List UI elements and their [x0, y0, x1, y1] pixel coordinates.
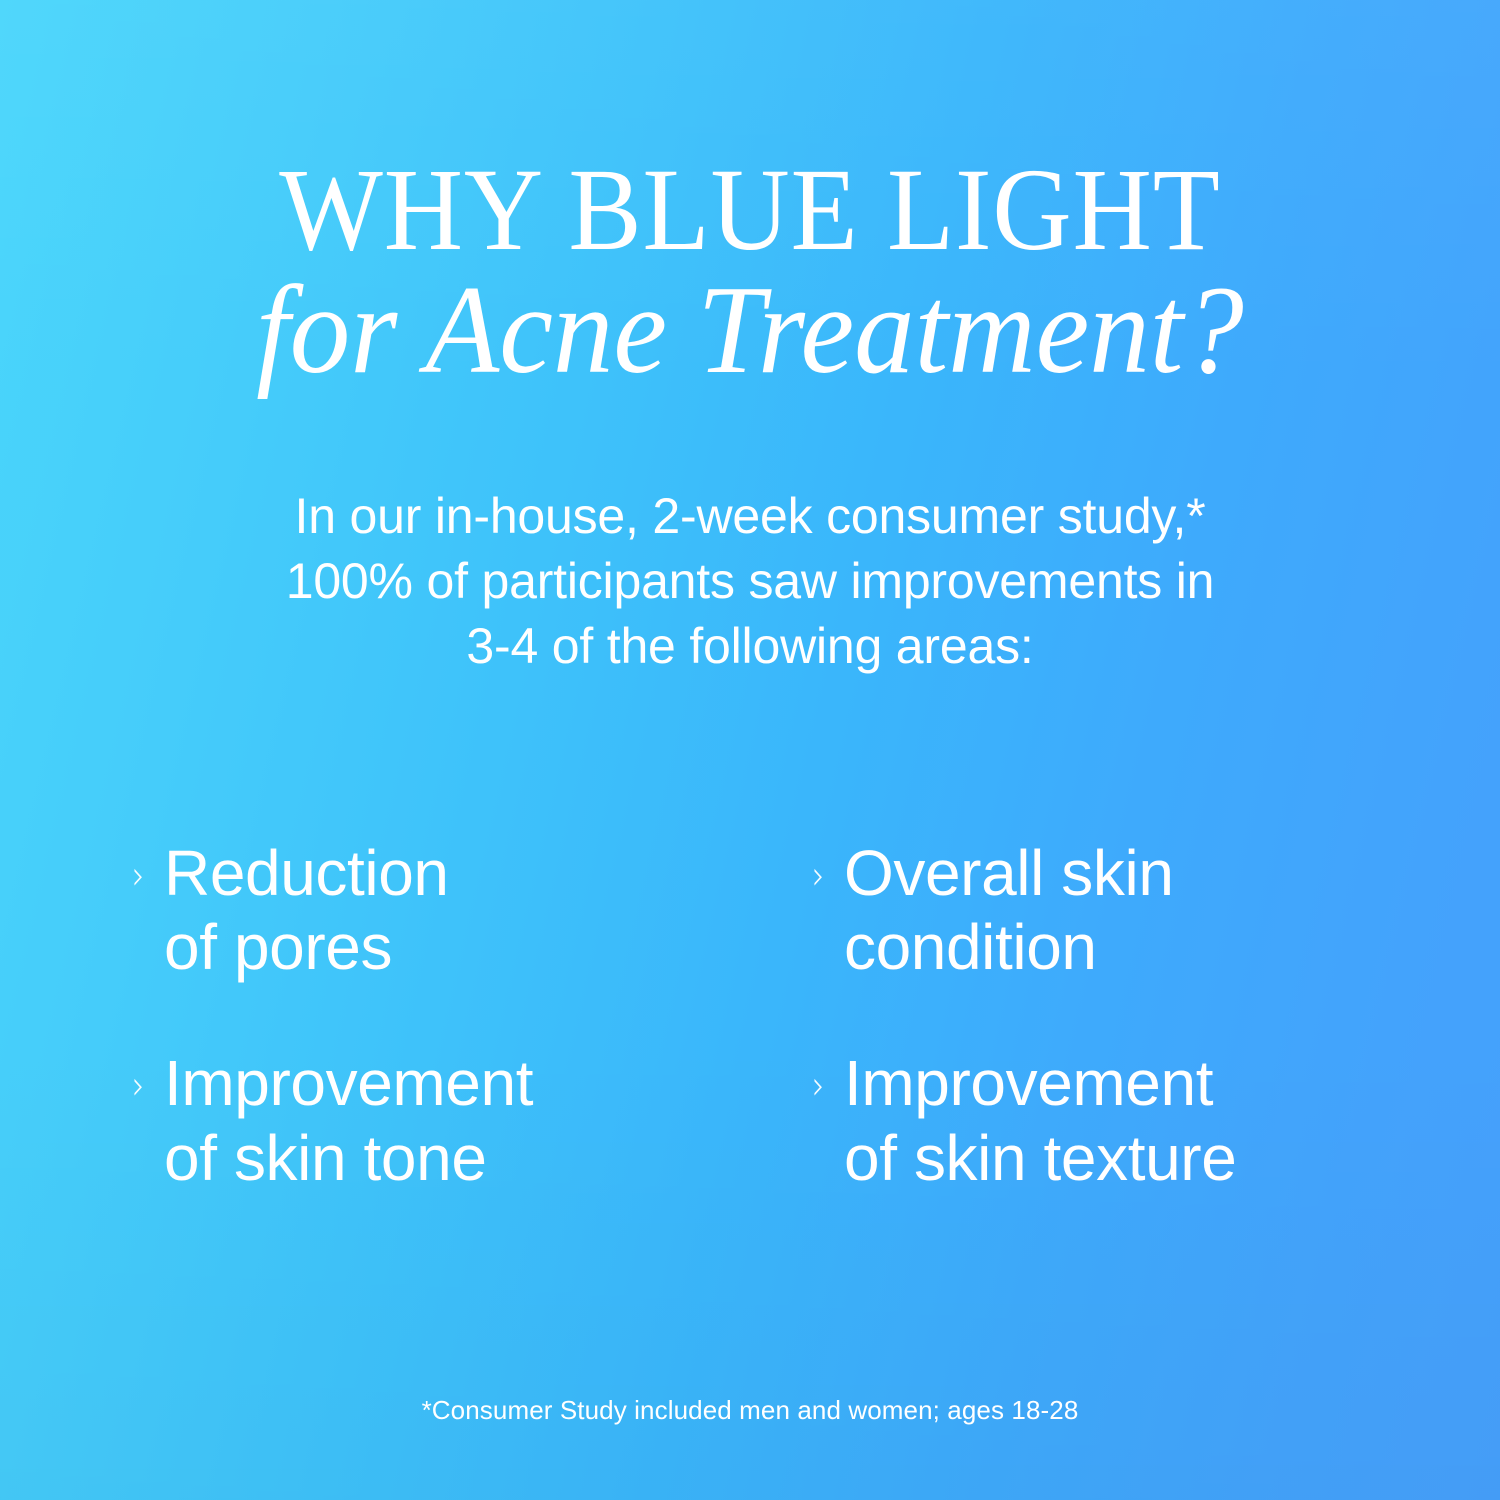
- promo-poster: WHY BLUE LIGHT for Acne Treatment? In ou…: [0, 0, 1500, 1500]
- intro-line-1: In our in-house, 2-week consumer study,*: [160, 484, 1340, 549]
- footnote-disclaimer: *Consumer Study included men and women; …: [0, 1394, 1500, 1428]
- benefit-label: Reduction of pores: [164, 836, 449, 984]
- benefit-label-line-2: of pores: [164, 910, 449, 984]
- benefit-item-reduction-of-pores: › Reduction of pores: [132, 836, 802, 984]
- intro-line-3: 3-4 of the following areas:: [160, 614, 1340, 679]
- benefit-label: Improvement of skin texture: [844, 1046, 1236, 1194]
- headline-line-secondary: for Acne Treatment?: [30, 264, 1470, 398]
- benefit-label-line-1: Overall skin: [844, 836, 1174, 910]
- benefit-label: Improvement of skin tone: [164, 1046, 533, 1194]
- chevron-right-icon: ›: [812, 856, 825, 896]
- benefit-label-line-2: of skin tone: [164, 1121, 533, 1195]
- benefit-item-improvement-of-skin-tone: › Improvement of skin tone: [132, 1046, 802, 1194]
- benefit-label: Overall skin condition: [844, 836, 1174, 984]
- benefit-label-line-2: of skin texture: [844, 1121, 1236, 1195]
- chevron-right-icon: ›: [812, 1066, 825, 1106]
- benefit-label-line-1: Reduction: [164, 836, 449, 910]
- intro-line-2: 100% of participants saw improvements in: [160, 549, 1340, 614]
- benefit-item-improvement-of-skin-texture: › Improvement of skin texture: [812, 1046, 1410, 1194]
- benefit-item-overall-skin-condition: › Overall skin condition: [812, 836, 1410, 984]
- benefit-label-line-1: Improvement: [844, 1046, 1236, 1120]
- headline-line-primary: WHY BLUE LIGHT: [53, 150, 1448, 270]
- benefit-label-line-1: Improvement: [164, 1046, 533, 1120]
- headline: WHY BLUE LIGHT for Acne Treatment?: [0, 150, 1500, 398]
- chevron-right-icon: ›: [132, 856, 145, 896]
- benefit-list: › Reduction of pores › Overall skin cond…: [132, 836, 1410, 1195]
- intro-paragraph: In our in-house, 2-week consumer study,*…: [160, 484, 1340, 679]
- chevron-right-icon: ›: [132, 1066, 145, 1106]
- benefit-label-line-2: condition: [844, 910, 1174, 984]
